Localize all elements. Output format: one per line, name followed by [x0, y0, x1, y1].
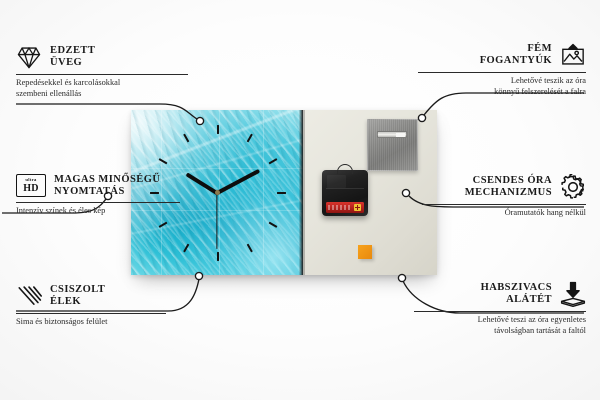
hour-marker	[269, 158, 278, 164]
callout-subtitle-line-1: Lehetővé teszi az óra egyenletes	[414, 315, 586, 326]
callout-subtitle-line-1: Sima és biztonságos felület	[16, 317, 166, 328]
callout-title-line-2: FOGANTYÚK	[480, 55, 552, 67]
panel-divider	[303, 110, 305, 275]
foam-pad	[358, 245, 372, 259]
movement-panel	[327, 175, 346, 188]
callout-titles: MAGAS MINŐSÉGŰ NYOMTATÁS	[54, 174, 160, 198]
polished-edges-icon	[16, 283, 42, 309]
callout-header: CSISZOLT ÉLEK	[16, 283, 166, 309]
clock-back-panel	[303, 110, 437, 275]
infographic-stage: EDZETT ÜVEG Repedésekkel és karcolásokka…	[0, 0, 600, 400]
callout-rule	[422, 204, 586, 205]
hour-marker	[159, 221, 168, 227]
callout-titles: HABSZIVACS ALÁTÉT	[481, 282, 552, 306]
battery-label	[328, 205, 352, 210]
clock-movement-box	[322, 170, 368, 216]
battery	[326, 202, 364, 213]
callout-title-line-1: CSISZOLT	[50, 284, 105, 296]
keyhole-slot	[377, 131, 407, 138]
clock-center-cap	[215, 190, 220, 195]
callout-header: CSENDES ÓRA MECHANIZMUS	[422, 174, 586, 200]
callout-header: HABSZIVACS ALÁTÉT	[414, 281, 586, 307]
callout-rule	[418, 72, 586, 73]
hour-hand	[185, 172, 218, 195]
callout-title-line-1: CSENDES ÓRA	[465, 175, 552, 187]
callout-silent-mechanism: CSENDES ÓRA MECHANIZMUS Óramutatók hang …	[422, 174, 586, 219]
minute-hand	[216, 168, 260, 194]
callout-rule	[414, 311, 586, 312]
callout-title-line-2: ÉLEK	[50, 296, 105, 308]
callout-subtitle-line-1: Intenzív színek és éles kép	[16, 206, 180, 217]
hour-marker	[183, 133, 189, 142]
callout-subtitle-line-2: szembeni ellenállás	[16, 89, 188, 100]
callout-header: FÉM FOGANTYÚK	[418, 42, 586, 68]
callout-subtitle-line-1: Óramutatók hang nélkül	[422, 208, 586, 219]
foam-pad-arrow-icon	[560, 281, 586, 307]
callout-title-line-1: FÉM	[480, 43, 552, 55]
hour-marker	[183, 243, 189, 252]
ultra-hd-large-text: HD	[23, 184, 38, 194]
callout-rule	[16, 74, 188, 75]
callout-subtitle-line-2: könnyű felszerelését a falra	[418, 87, 586, 98]
callout-header: EDZETT ÜVEG	[16, 44, 188, 70]
callout-title-line-2: NYOMTATÁS	[54, 186, 160, 198]
metal-hanger-plate	[367, 119, 418, 171]
hour-marker	[269, 221, 278, 227]
hour-marker	[277, 192, 286, 194]
wall-mount-frame-icon	[560, 42, 586, 68]
callout-rule	[16, 202, 180, 203]
callout-title-line-1: EDZETT	[50, 45, 95, 57]
callout-title-line-1: HABSZIVACS	[481, 282, 552, 294]
callout-title-line-2: MECHANIZMUS	[465, 187, 552, 199]
battery-plus-terminal	[354, 204, 361, 211]
callout-subtitle-line-1: Lehetővé teszik az óra	[418, 76, 586, 87]
ultra-hd-icon: ultra HD	[16, 174, 46, 197]
callout-titles: CSENDES ÓRA MECHANIZMUS	[465, 175, 552, 199]
callout-metal-handles: FÉM FOGANTYÚK Lehetővé teszik az óra kön…	[418, 42, 586, 98]
callout-titles: CSISZOLT ÉLEK	[50, 284, 105, 308]
callout-tempered-glass: EDZETT ÜVEG Repedésekkel és karcolásokka…	[16, 44, 188, 100]
diamond-icon	[16, 44, 42, 70]
hour-marker	[217, 252, 219, 261]
callout-foam-pad: HABSZIVACS ALÁTÉT Lehetővé teszi az óra …	[414, 281, 586, 337]
callout-subtitle-line-2: távolságban tartását a faltól	[414, 326, 586, 337]
callout-title-line-2: ÜVEG	[50, 57, 95, 69]
hour-marker	[247, 243, 253, 252]
hanging-loop	[337, 164, 353, 174]
hour-marker	[247, 133, 253, 142]
callout-titles: FÉM FOGANTYÚK	[480, 43, 552, 67]
callout-header: ultra HD MAGAS MINŐSÉGŰ NYOMTATÁS	[16, 174, 180, 198]
callout-subtitle-line-1: Repedésekkel és karcolásokkal	[16, 78, 188, 89]
callout-polished-edges: CSISZOLT ÉLEK Sima és biztonságos felüle…	[16, 283, 166, 328]
gear-icon	[560, 174, 586, 200]
callout-title-line-1: MAGAS MINŐSÉGŰ	[54, 174, 160, 186]
callout-title-line-2: ALÁTÉT	[481, 294, 552, 306]
callout-titles: EDZETT ÜVEG	[50, 45, 95, 69]
movement-seam	[326, 188, 364, 189]
hour-marker	[217, 125, 219, 134]
hour-marker	[159, 158, 168, 164]
second-hand	[216, 193, 217, 249]
connector-dot-foam	[398, 274, 405, 281]
callout-high-quality-print: ultra HD MAGAS MINŐSÉGŰ NYOMTATÁS Intenz…	[16, 174, 180, 216]
callout-rule	[16, 313, 166, 314]
ultra-hd-small-text: ultra	[25, 178, 36, 183]
